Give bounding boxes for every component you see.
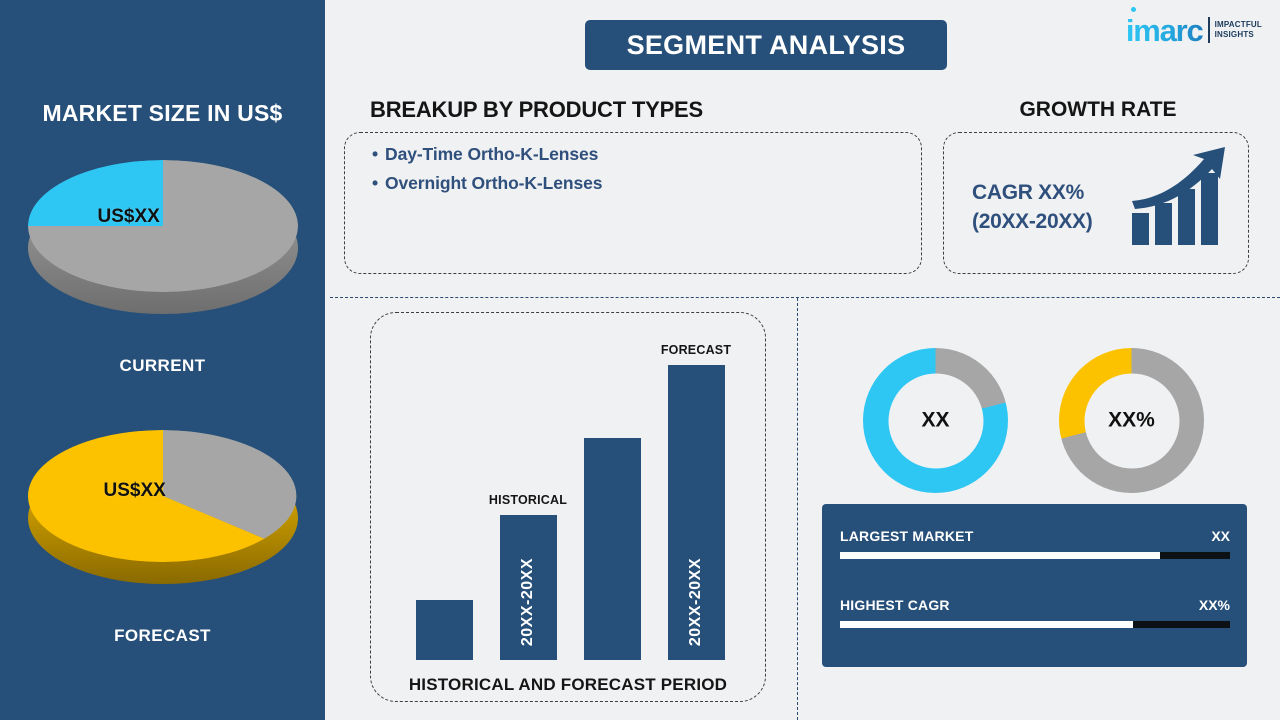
market-size-panel: MARKET SIZE IN US$ US$XX CURRENT: [0, 0, 325, 720]
stat-row: LARGEST MARKET XX: [840, 528, 1230, 559]
list-item: Day-Time Ortho-K-Lenses: [372, 140, 892, 169]
stat-value: XX%: [1199, 597, 1230, 613]
donut-value: XX: [921, 409, 949, 433]
growth-section-title: GROWTH RATE: [943, 98, 1253, 122]
list-item: Overnight Ortho-K-Lenses: [372, 169, 892, 198]
chart-bar: HISTORICAL20XX-20XX: [500, 515, 557, 660]
cagr-line-1: CAGR XX%: [972, 178, 1132, 207]
infographic-canvas: MARKET SIZE IN US$ US$XX CURRENT: [0, 0, 1280, 720]
horizontal-divider: [330, 297, 1280, 298]
stat-progress-fill: [840, 621, 1133, 628]
vertical-divider: [797, 298, 798, 720]
forecast-pie-group: US$XX FORECAST: [0, 430, 325, 590]
chart-bar: [584, 438, 641, 660]
chart-bar-top-label: HISTORICAL: [489, 493, 567, 507]
chart-bar: FORECAST20XX-20XX: [668, 365, 725, 660]
historical-forecast-bar-chart: HISTORICAL20XX-20XXFORECAST20XX-20XX: [400, 340, 740, 660]
cagr-line-2: (20XX-20XX): [972, 207, 1132, 236]
donut-value: XX%: [1108, 409, 1155, 433]
logo-tagline-line1: IMPACTFUL: [1215, 20, 1262, 30]
imarc-logo: imarc IMPACTFUL INSIGHTS: [1126, 10, 1262, 50]
chart-bar-period-label: 20XX-20XX: [519, 558, 537, 646]
stat-progress-fill: [840, 552, 1160, 559]
forecast-pie-stage: US$XX: [28, 430, 298, 590]
growth-arrow-chart-icon: [1130, 145, 1230, 250]
chart-bar-period-label: 20XX-20XX: [687, 558, 705, 646]
breakup-list: Day-Time Ortho-K-Lenses Overnight Ortho-…: [372, 140, 892, 198]
current-pie-caption: CURRENT: [0, 356, 325, 376]
market-share-donut: XX: [863, 348, 1008, 493]
forecast-pie-caption: FORECAST: [0, 626, 325, 646]
stat-header: LARGEST MARKET XX: [840, 528, 1230, 547]
current-pie-stage: US$XX: [28, 160, 298, 320]
stat-header: HIGHEST CAGR XX%: [840, 597, 1230, 616]
forecast-pie-value: US$XX: [104, 480, 166, 502]
cagr-text: CAGR XX% (20XX-20XX): [972, 178, 1132, 236]
growth-share-donut: XX%: [1059, 348, 1204, 493]
chart-bar-top-label: FORECAST: [661, 343, 731, 357]
key-stats-panel: LARGEST MARKET XX HIGHEST CAGR XX%: [822, 504, 1247, 667]
donut-hole: XX: [888, 373, 983, 468]
page-title: SEGMENT ANALYSIS: [585, 20, 947, 70]
logo-tagline: IMPACTFUL INSIGHTS: [1215, 20, 1262, 40]
stat-value: XX: [1211, 528, 1230, 544]
stat-label: LARGEST MARKET: [840, 528, 973, 544]
breakup-section-title: BREAKUP BY PRODUCT TYPES: [370, 97, 703, 123]
stat-progress-track: [840, 621, 1230, 628]
current-pie-group: US$XX CURRENT: [0, 160, 325, 320]
logo-wordmark: imarc: [1126, 15, 1203, 46]
current-pie-value: US$XX: [98, 206, 160, 228]
logo-divider: [1208, 17, 1210, 43]
stat-label: HIGHEST CAGR: [840, 597, 950, 613]
chart-x-axis-label: HISTORICAL AND FORECAST PERIOD: [370, 675, 766, 695]
market-size-title: MARKET SIZE IN US$: [0, 100, 325, 127]
logo-dot-icon: [1131, 7, 1136, 12]
stat-row: HIGHEST CAGR XX%: [840, 597, 1230, 628]
stat-progress-track: [840, 552, 1230, 559]
donut-hole: XX%: [1084, 373, 1179, 468]
logo-tagline-line2: INSIGHTS: [1215, 30, 1262, 40]
chart-bar: [416, 600, 473, 660]
current-pie-top: [28, 160, 298, 292]
